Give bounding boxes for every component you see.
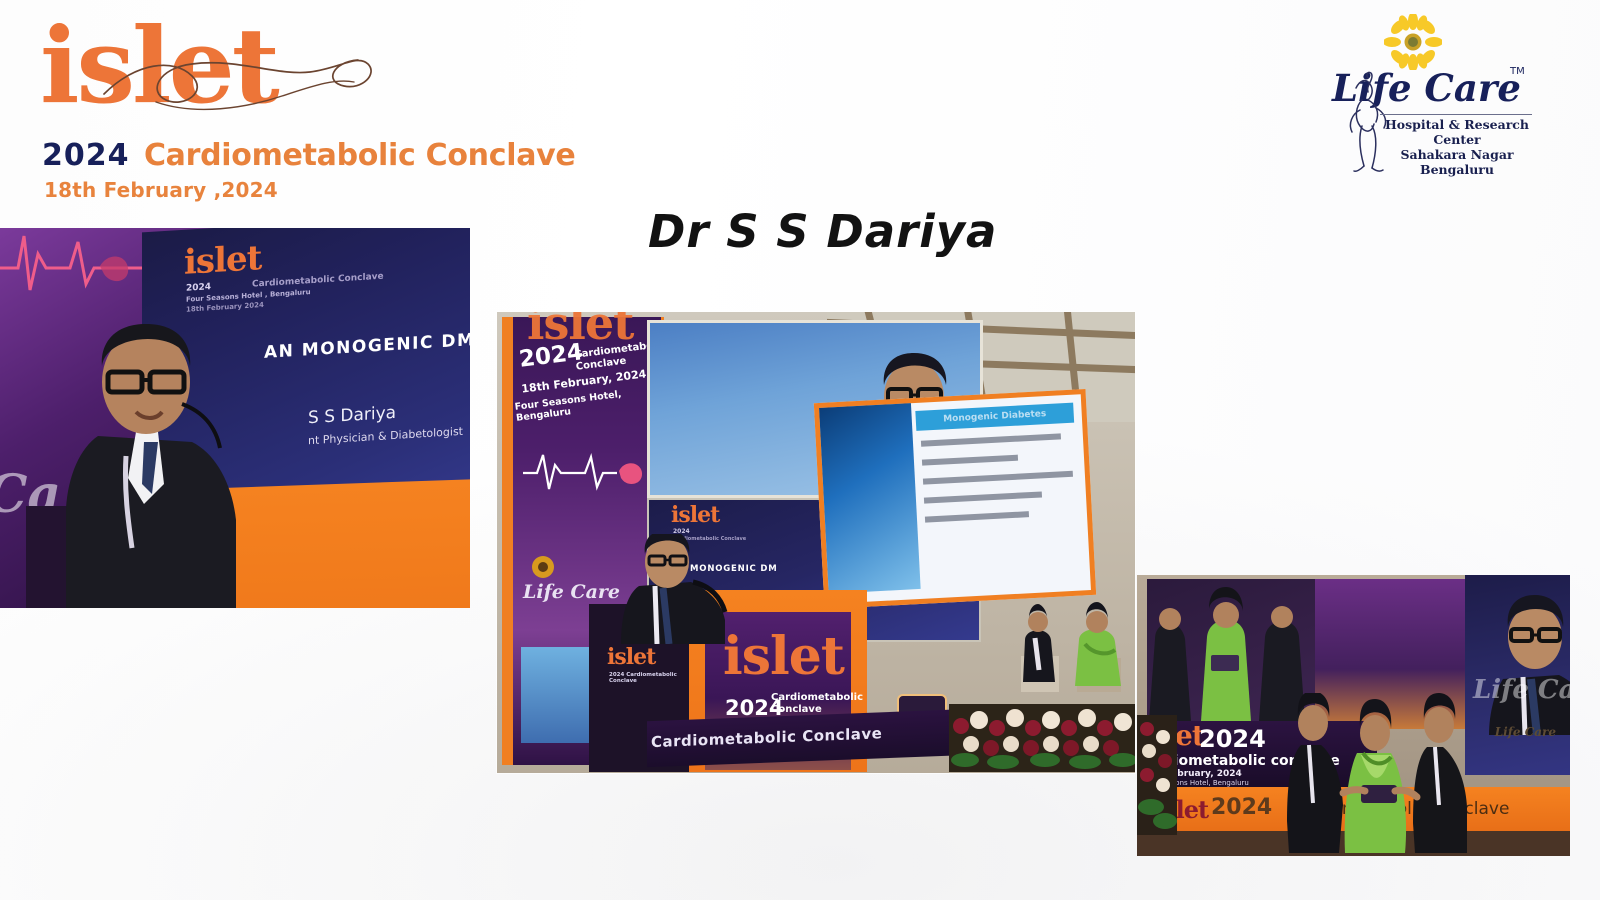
photo2-flower-arrangement bbox=[949, 704, 1135, 772]
award-felicitation-photo: islet 2024 Cardiometabolic Conclave AN M… bbox=[1137, 575, 1570, 856]
event-logo: islet 2024 Cardiometabolic Conclave 18th… bbox=[40, 18, 510, 203]
photo2-standee-sponsor: Life Care bbox=[523, 581, 620, 603]
photo2-ecg-icon bbox=[523, 449, 647, 493]
photo4-felicitation-group bbox=[1287, 693, 1467, 853]
sponsor-subtitle-line3: Bengaluru bbox=[1380, 162, 1534, 177]
photo2-slide-header: Monogenic Diabetes bbox=[915, 403, 1074, 431]
photo2-dna-slide: Monogenic Diabetes bbox=[814, 389, 1096, 609]
islet-swirl-icon bbox=[96, 42, 386, 128]
photo4-projection-screen: islet 2024 Cardiometabolic Conclave AN M… bbox=[1465, 575, 1570, 775]
photo2-seated-guests bbox=[1015, 598, 1135, 692]
photo1-slide-designation: nt Physician & Diabetologist bbox=[308, 425, 463, 447]
photo2-speaker-figure bbox=[613, 534, 733, 644]
event-logo-subline: 2024 Cardiometabolic Conclave bbox=[42, 138, 575, 173]
sponsor-subtitle-line2: Sahakara Nagar bbox=[1380, 147, 1534, 162]
photo2-stage-banner-text: Cardiometabolic Conclave bbox=[651, 724, 882, 751]
event-year: 2024 bbox=[42, 138, 130, 173]
trademark-mark: TM bbox=[1510, 66, 1525, 77]
sponsor-subtitle: Hospital & Research Center Sahakara Naga… bbox=[1380, 117, 1534, 177]
photo2-podium-islet: islet bbox=[723, 634, 844, 681]
photo4-banner-year: 2024 bbox=[1199, 725, 1266, 753]
photo1-screen-year: 2024 bbox=[186, 282, 211, 294]
sponsor-subtitle-line1: Hospital & Research Center bbox=[1380, 117, 1534, 147]
sunflower-icon bbox=[1384, 14, 1442, 70]
photo2-standee-sunflower-icon bbox=[529, 553, 557, 581]
photo4-sponsor-mark: Life Care bbox=[1495, 725, 1556, 739]
islet-wordmark-group: islet bbox=[40, 18, 510, 138]
conference-hall-wide-photo: islet 2024 Cardiometabolic Conclave 18th… bbox=[497, 312, 1135, 773]
photo4-flower-arrangement bbox=[1137, 715, 1177, 835]
dna-helix-image bbox=[819, 403, 921, 594]
event-tagline: Cardiometabolic Conclave bbox=[144, 138, 576, 173]
photo2-podium-tagline: Cardiometabolic Conclave bbox=[771, 692, 843, 716]
photo1-screen-tagline: Cardiometabolic Conclave bbox=[252, 272, 384, 290]
photo1-speaker-figure bbox=[40, 308, 255, 608]
photo2-podium-side-sub: 2024 Cardiometabolic Conclave bbox=[609, 672, 691, 684]
presentation-slide: islet 2024 Cardiometabolic Conclave 18th… bbox=[0, 0, 1600, 900]
photo4-proj-speaker-figure bbox=[1483, 595, 1570, 735]
photo4-proj-sponsor-watermark: Life Care bbox=[1473, 675, 1570, 705]
event-date: 18th February ,2024 bbox=[44, 178, 278, 202]
speaker-at-podium-photo: islet 2024 Cardiometabolic Conclave Four… bbox=[0, 228, 470, 608]
photo1-screen-islet-logo: islet bbox=[184, 243, 261, 278]
photo4-stage-band-year: 2024 bbox=[1211, 795, 1272, 820]
photo1-slide-title: AN MONOGENIC DM bbox=[264, 330, 470, 363]
photo2-proj-islet-logo: islet bbox=[671, 506, 719, 526]
sponsor-logo: Life Care TM Hospital & Research Center … bbox=[1332, 14, 1532, 182]
sponsor-logo-divider bbox=[1380, 114, 1532, 115]
photo1-slide-presenter: S S Dariya bbox=[308, 403, 396, 428]
photo2-podium-side-islet: islet bbox=[607, 648, 655, 668]
photo2-slide-title: Monogenic Diabetes bbox=[915, 403, 1074, 431]
page-title: Dr S S Dariya bbox=[648, 205, 997, 258]
photo2-slide-bullets bbox=[921, 433, 1078, 536]
